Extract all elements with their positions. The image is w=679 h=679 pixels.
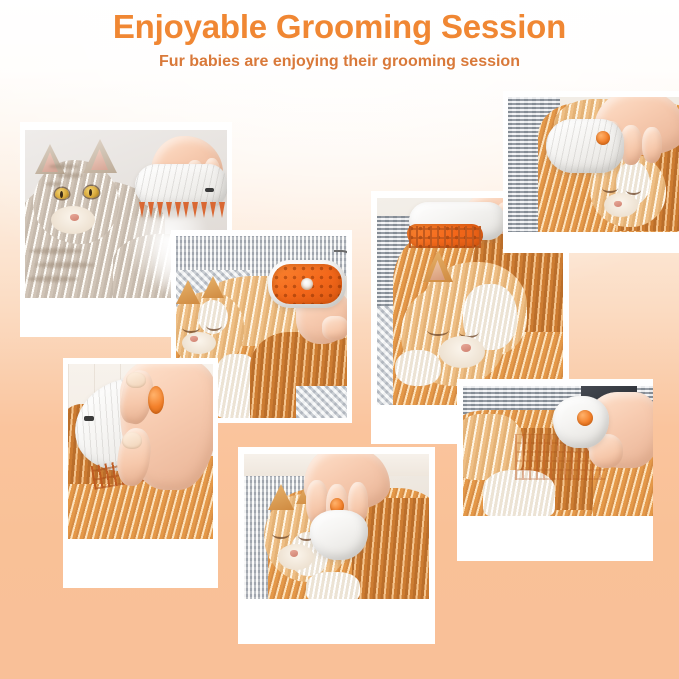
header: Enjoyable Grooming Session Fur babies ar…	[0, 0, 679, 71]
photo-card-bottom-center	[238, 447, 435, 644]
photo-card-top-right	[503, 91, 679, 253]
photo-card-bottom-right	[457, 379, 653, 561]
photo-top-right-white-brush-head	[508, 97, 679, 232]
photo-bottom-right-brush-on-belly	[463, 386, 653, 516]
photo-bottom-center-cat-face-groom	[244, 454, 429, 599]
photo-brush-closeup-on-fur	[68, 364, 213, 539]
page-title: Enjoyable Grooming Session	[0, 8, 679, 46]
page-subtitle: Fur babies are enjoying their grooming s…	[0, 52, 679, 71]
poster-canvas: Enjoyable Grooming Session Fur babies ar…	[0, 0, 679, 679]
photo-card-brush-closeup	[63, 358, 218, 588]
